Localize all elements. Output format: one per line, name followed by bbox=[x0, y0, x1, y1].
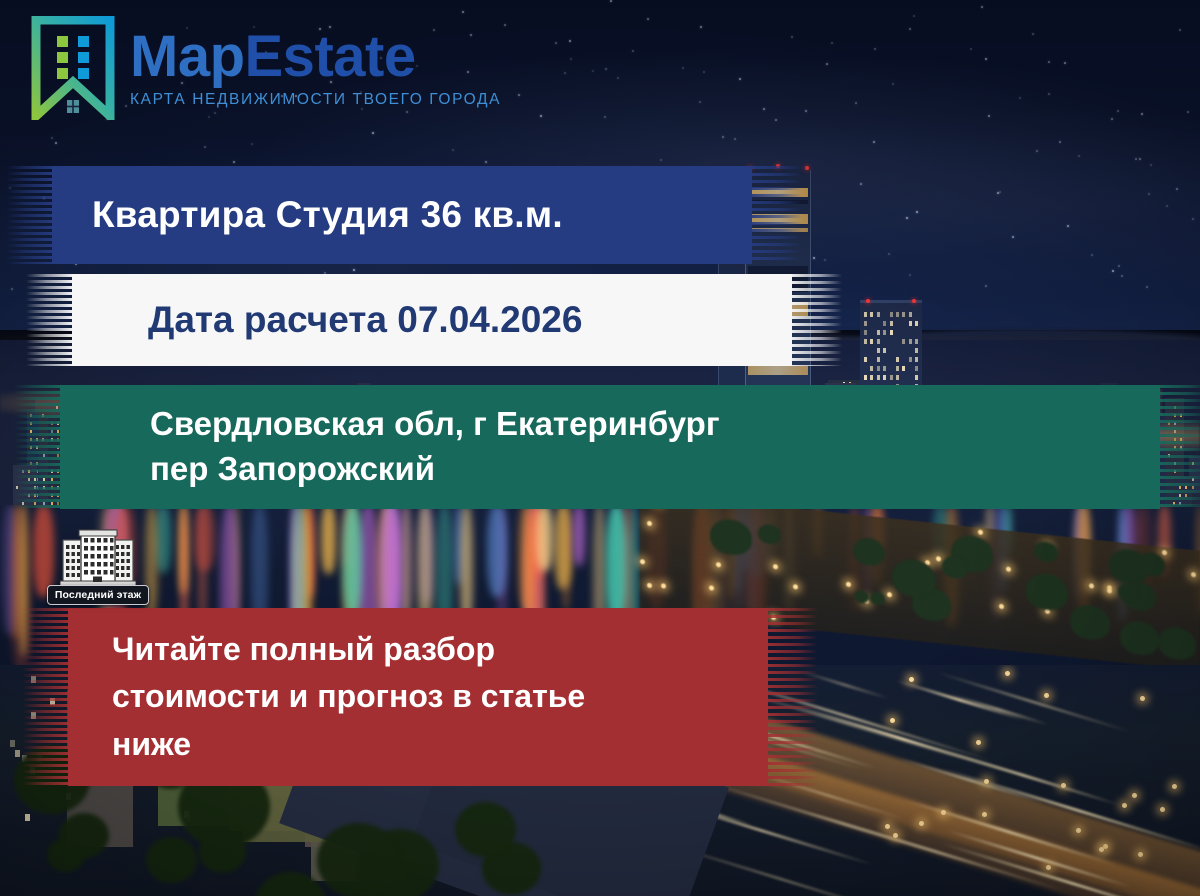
band-fray-right bbox=[750, 166, 802, 264]
brand-wordmark: MapEstate КАРТА НЕДВИЖИМОСТИ ТВОЕГО ГОРО… bbox=[130, 28, 501, 109]
bookmark-building-icon bbox=[30, 16, 116, 120]
calculation-date-band: Дата расчета 07.04.2026 bbox=[72, 274, 792, 366]
poster-canvas: MapEstate КАРТА НЕДВИЖИМОСТИ ТВОЕГО ГОРО… bbox=[0, 0, 1200, 896]
brand-logo[interactable]: MapEstate КАРТА НЕДВИЖИМОСТИ ТВОЕГО ГОРО… bbox=[30, 16, 501, 120]
apartment-building-icon bbox=[60, 524, 136, 586]
apartment-title-band: Квартира Студия 36 кв.м. bbox=[52, 166, 752, 264]
cta-line-1: Читайте полный разбор bbox=[112, 626, 585, 673]
band-fray-left bbox=[26, 274, 72, 366]
band-fray-left bbox=[14, 385, 60, 509]
brand-name: MapEstate bbox=[130, 28, 501, 86]
brand-name-part1: Map bbox=[130, 24, 245, 89]
band-fray-left bbox=[6, 166, 52, 264]
cta-line-2: стоимости и прогноз в статье bbox=[112, 673, 585, 720]
cta-line-3: ниже bbox=[112, 721, 585, 768]
band-fray-right bbox=[1158, 385, 1200, 509]
address-line-2: пер Запорожский bbox=[150, 447, 720, 492]
map-pin-marker[interactable]: Последний этаж bbox=[40, 524, 156, 605]
address-text: Свердловская обл, г Екатеринбург пер Зап… bbox=[150, 402, 720, 491]
cta-text: Читайте полный разбор стоимости и прогно… bbox=[112, 626, 585, 768]
brand-name-part2: Estate bbox=[245, 24, 416, 89]
address-line-1: Свердловская обл, г Екатеринбург bbox=[150, 402, 720, 447]
map-pin-label: Последний этаж bbox=[47, 585, 149, 605]
band-fray-right bbox=[790, 274, 842, 366]
address-band: Свердловская обл, г Екатеринбург пер Зап… bbox=[60, 385, 1160, 509]
apartment-title-text: Квартира Студия 36 кв.м. bbox=[92, 194, 563, 236]
cta-band[interactable]: Читайте полный разбор стоимости и прогно… bbox=[68, 608, 768, 786]
brand-tagline: КАРТА НЕДВИЖИМОСТИ ТВОЕГО ГОРОДА bbox=[130, 91, 501, 109]
band-fray-left bbox=[22, 608, 68, 786]
band-fray-right bbox=[766, 608, 818, 786]
calculation-date-text: Дата расчета 07.04.2026 bbox=[148, 299, 582, 341]
